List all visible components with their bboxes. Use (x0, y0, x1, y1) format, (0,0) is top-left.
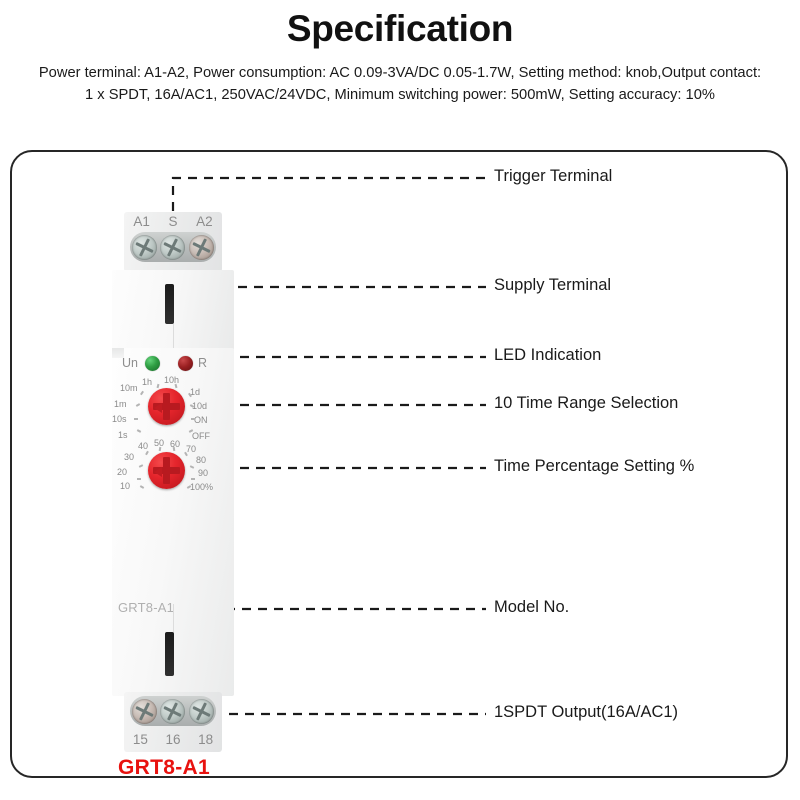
callout-time-percentage-setting: Time Percentage Setting % (494, 457, 694, 476)
bottom-screw-strip (130, 696, 216, 726)
knob-pointer-icon (154, 403, 162, 413)
time-scale-1m: 1m (114, 400, 127, 409)
top-screw-strip (130, 232, 216, 262)
terminal-label-a2: A2 (196, 214, 213, 229)
time-scale-on: ON (194, 416, 208, 425)
screw-terminal-18[interactable] (189, 699, 214, 724)
knob-pointer-icon (154, 467, 162, 477)
pct-scale-30: 30 (124, 453, 134, 462)
led-indicator-green (145, 356, 160, 371)
screw-terminal-15[interactable] (132, 699, 157, 724)
time-scale-10s: 10s (112, 415, 127, 424)
callout-supply-terminal: Supply Terminal (494, 276, 611, 295)
time-range-knob[interactable] (148, 388, 185, 425)
terminal-label-18: 18 (198, 732, 213, 747)
callout-time-range-selection: 10 Time Range Selection (494, 394, 678, 413)
product-model-name: GRT8-A1 (118, 756, 210, 780)
bottom-terminal-block: 15 16 18 (124, 692, 222, 752)
callout-model-no: Model No. (494, 598, 569, 617)
callout-spdt-output: 1SPDT Output(16A/AC1) (494, 703, 678, 722)
pct-scale-60: 60 (170, 440, 180, 449)
time-scale-10h: 10h (164, 376, 179, 385)
led-indicator-red (178, 356, 193, 371)
screw-terminal-16[interactable] (160, 699, 185, 724)
screw-terminal-s[interactable] (160, 235, 185, 260)
screw-terminal-a1[interactable] (132, 235, 157, 260)
time-scale-10m: 10m (120, 384, 138, 393)
model-number-on-body: GRT8-A1 (118, 600, 174, 615)
terminal-label-s: S (168, 214, 177, 229)
pct-scale-100: 100% (190, 483, 213, 492)
pct-scale-10: 10 (120, 482, 130, 491)
time-percentage-knob[interactable] (148, 452, 185, 489)
body-seam-bottom (173, 604, 174, 634)
specification-diagram: Specification Power terminal: A1-A2, Pow… (0, 0, 800, 800)
led-label-un: Un (122, 356, 138, 370)
timer-relay-device: A1 S A2 Un R 1h 10h 10m 1d 1m 10d 10 (112, 212, 234, 752)
bottom-terminal-labels: 15 16 18 (124, 732, 222, 747)
top-terminal-labels: A1 S A2 (124, 214, 222, 229)
pct-scale-20: 20 (117, 468, 127, 477)
terminal-label-16: 16 (165, 732, 180, 747)
led-label-r: R (198, 356, 207, 370)
time-scale-10d: 10d (192, 402, 207, 411)
screw-terminal-a2[interactable] (189, 235, 214, 260)
pct-scale-70: 70 (186, 445, 196, 454)
pct-scale-90: 90 (198, 469, 208, 478)
time-scale-1h: 1h (142, 378, 152, 387)
time-scale-off: OFF (192, 432, 210, 441)
terminal-label-a1: A1 (133, 214, 150, 229)
time-scale-1s: 1s (118, 431, 128, 440)
terminal-label-15: 15 (133, 732, 148, 747)
din-slot-top (165, 284, 174, 324)
din-slot-bottom (165, 632, 174, 676)
pct-scale-80: 80 (196, 456, 206, 465)
callout-led-indication: LED Indication (494, 346, 601, 365)
callout-trigger-terminal: Trigger Terminal (494, 167, 612, 186)
top-terminal-block: A1 S A2 (124, 212, 222, 272)
